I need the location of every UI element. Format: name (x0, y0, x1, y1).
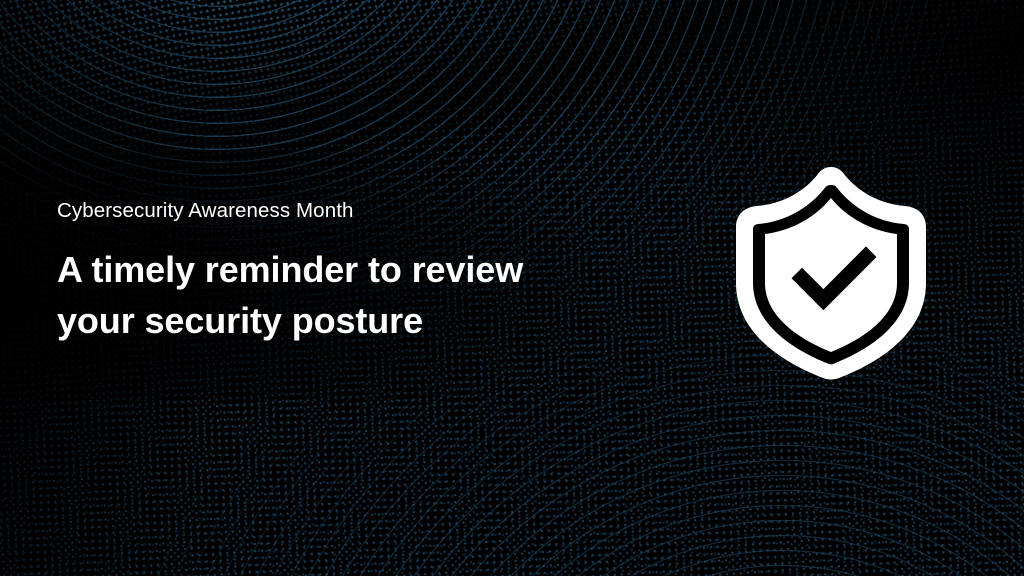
headline: A timely reminder to review your securit… (57, 244, 617, 346)
shield-check-glyph (733, 165, 929, 381)
eyebrow-label: Cybersecurity Awareness Month (57, 199, 617, 224)
headline-line-1: A timely reminder to review (57, 244, 617, 295)
copy-block: Cybersecurity Awareness Month A timely r… (57, 199, 617, 346)
headline-line-2: your security posture (57, 295, 617, 346)
shield-check-icon (733, 165, 929, 381)
hero-banner: Cybersecurity Awareness Month A timely r… (0, 0, 1024, 576)
